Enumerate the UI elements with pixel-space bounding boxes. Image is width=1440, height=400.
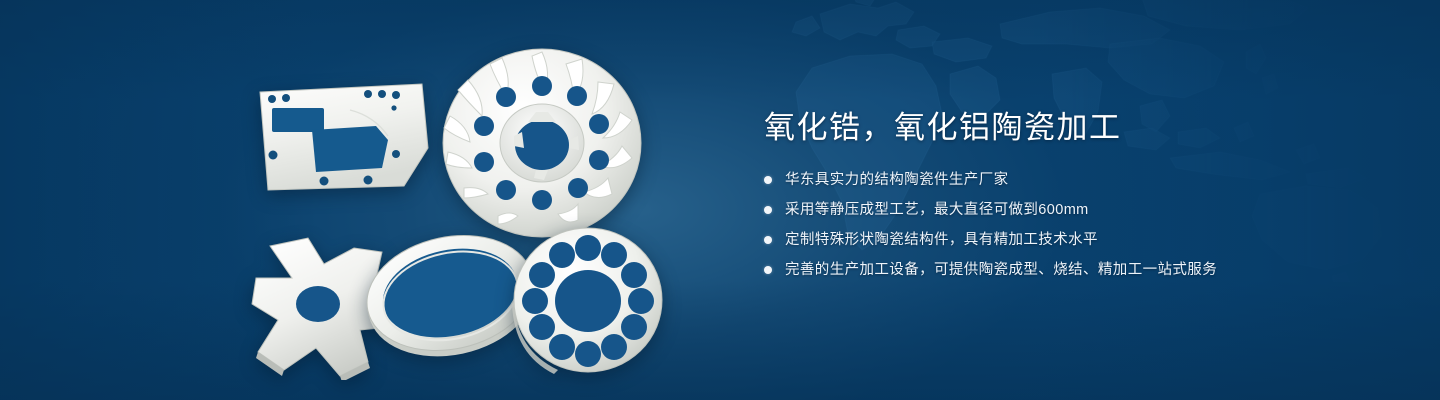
feature-text: 定制特殊形状陶瓷结构件，具有精加工技术水平 <box>785 230 1098 250</box>
bullet-dot-icon <box>764 176 772 184</box>
page-title: 氧化锆，氧化铝陶瓷加工 <box>764 108 1324 148</box>
list-item: 华东具实力的结构陶瓷件生产厂家 <box>764 170 1324 190</box>
list-item: 定制特殊形状陶瓷结构件，具有精加工技术水平 <box>764 230 1324 250</box>
ceramic-plate-icon <box>254 82 434 192</box>
bullet-dot-icon <box>764 206 772 214</box>
feature-text: 采用等静压成型工艺，最大直径可做到600mm <box>785 200 1089 220</box>
hero-banner: 氧化锆，氧化铝陶瓷加工 华东具实力的结构陶瓷件生产厂家 采用等静压成型工艺，最大… <box>0 0 1440 400</box>
bullet-dot-icon <box>764 236 772 244</box>
ceramic-impeller-icon <box>432 40 652 240</box>
list-item: 完善的生产加工设备，可提供陶瓷成型、烧结、精加工一站式服务 <box>764 260 1324 280</box>
bullet-dot-icon <box>764 266 772 274</box>
banner-copy: 氧化锆，氧化铝陶瓷加工 华东具实力的结构陶瓷件生产厂家 采用等静压成型工艺，最大… <box>764 108 1324 280</box>
feature-text: 完善的生产加工设备，可提供陶瓷成型、烧结、精加工一站式服务 <box>785 260 1217 280</box>
product-collage <box>240 40 690 380</box>
feature-list: 华东具实力的结构陶瓷件生产厂家 采用等静压成型工艺，最大直径可做到600mm 定… <box>764 170 1324 280</box>
ceramic-annulus-icon <box>508 222 668 377</box>
feature-text: 华东具实力的结构陶瓷件生产厂家 <box>785 170 1009 190</box>
list-item: 采用等静压成型工艺，最大直径可做到600mm <box>764 200 1324 220</box>
